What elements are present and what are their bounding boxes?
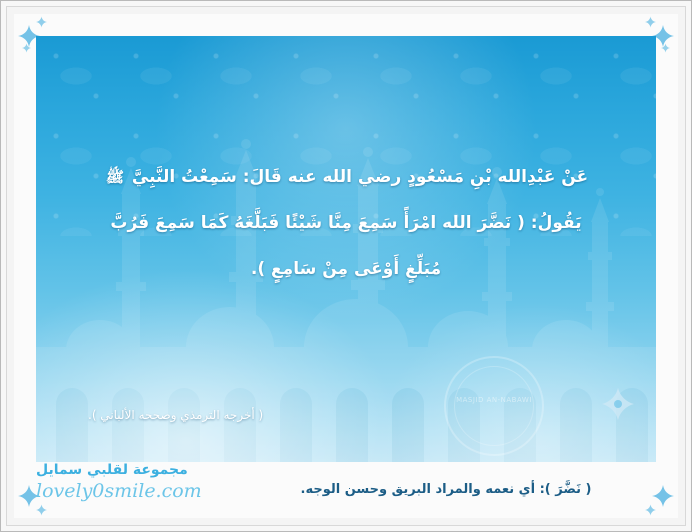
ornament-side-right-icon (596, 384, 640, 428)
brand-block: مجموعة لقلبي سمايل lovely0smile.com (36, 462, 246, 502)
footer: مجموعة لقلبي سمايل lovely0smile.com ( نَ… (36, 462, 656, 518)
salutation-badge: ﷺ (104, 154, 126, 200)
hadith-line-1-text: عَنْ عَبْدِالله بْنِ مَسْعُودٍ رضي الله … (132, 167, 588, 187)
light-flare-left (36, 272, 396, 462)
hadith-line-1: عَنْ عَبْدِالله بْنِ مَسْعُودٍ رضي الله … (66, 154, 626, 200)
poster-page: MASJID AN-NABAWI عَنْ عَبْدِالله بْنِ مَ… (0, 0, 692, 532)
hadith-line-3: مُبَلِّغٍ أَوْعَى مِنْ سَامِعٍ ). (66, 246, 626, 292)
footnote-text: ( نَضَّرَ ): أي نعمه والمراد البريق وحسن… (236, 482, 656, 497)
brand-website-label[interactable]: lovely0smile.com (36, 480, 246, 502)
seal-watermark-text: MASJID AN-NABAWI (446, 396, 542, 404)
seal-watermark: MASJID AN-NABAWI (444, 356, 544, 456)
hadith-text: عَنْ عَبْدِالله بْنِ مَسْعُودٍ رضي الله … (66, 154, 626, 292)
hadith-image-panel: MASJID AN-NABAWI عَنْ عَبْدِالله بْنِ مَ… (36, 36, 656, 462)
brand-arabic-label: مجموعة لقلبي سمايل (36, 462, 246, 478)
hadith-line-2: يَقُولُ: ( نَضَّرَ الله امْرَأً سَمِعَ م… (66, 200, 626, 246)
hadith-source-text: ( أخرجه الترمذي وصححه الألباني ). (88, 408, 263, 422)
